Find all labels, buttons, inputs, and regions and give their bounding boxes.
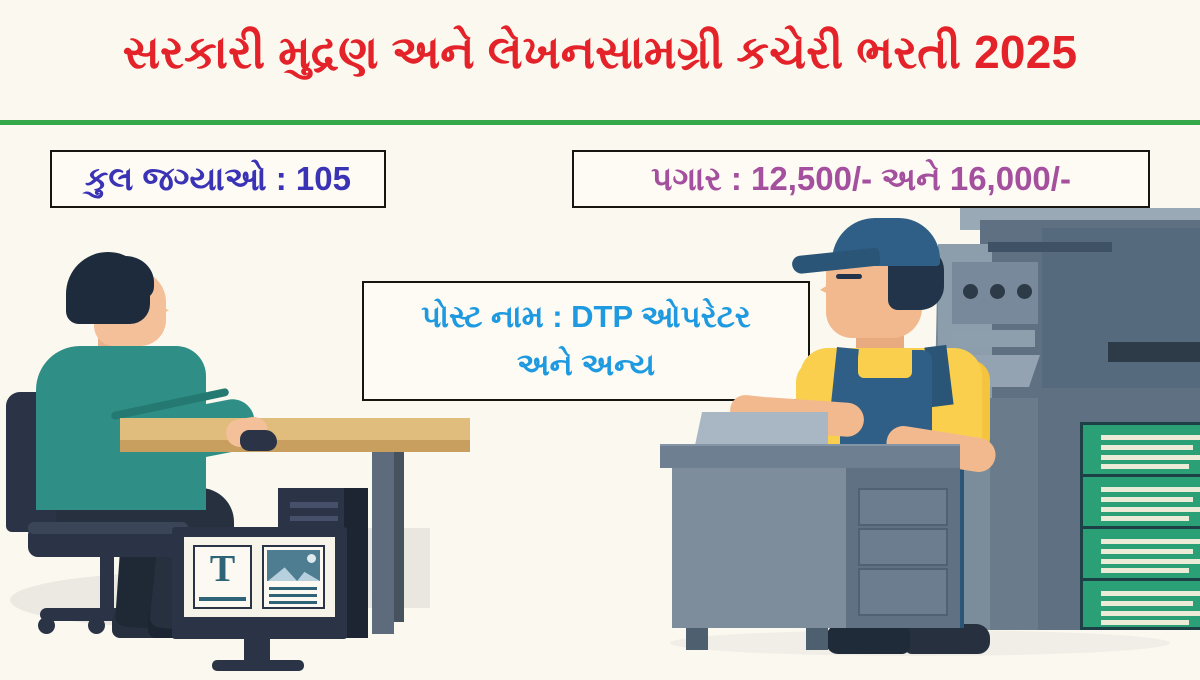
paper-sheet — [1101, 568, 1189, 573]
shelf-row — [1083, 477, 1200, 529]
desk-leg — [372, 452, 394, 634]
total-vacancies-box: કુલ જગ્યાઓ : 105 — [50, 150, 386, 208]
shelf-row — [1083, 529, 1200, 581]
computer-mouse — [240, 430, 277, 451]
monitor-neck — [244, 639, 270, 663]
screen-text-glyph: T — [193, 546, 252, 592]
paper-sheet — [1101, 455, 1200, 460]
desk-leg-inner — [394, 452, 404, 622]
work-table-drawer — [858, 528, 948, 566]
paper-sheet — [1101, 516, 1189, 521]
paper-sheet — [1101, 464, 1189, 469]
press-button-icon — [990, 284, 1005, 299]
shelf-row — [1083, 425, 1200, 477]
pc-tower-drive-slot — [290, 502, 338, 508]
screen-photo-sun — [307, 554, 316, 563]
total-vacancies-text: કુલ જગ્યાઓ : 105 — [85, 159, 351, 199]
work-table-drawer — [858, 488, 948, 526]
chair-caster — [88, 617, 105, 634]
work-table-top — [660, 446, 960, 468]
paper-sheet — [1101, 507, 1200, 512]
press-top-line — [988, 242, 1112, 252]
paper-sheet — [1101, 539, 1200, 544]
screen-photo-caption-line — [269, 594, 317, 597]
pc-tower-side — [344, 488, 368, 638]
paper-sheet — [1101, 620, 1189, 625]
press-operator-illustration — [660, 200, 1200, 680]
salary-text: પગાર : 12,500/- અને 16,000/- — [651, 159, 1071, 199]
worker-shoe-front — [826, 624, 910, 654]
paper-sheet — [1101, 611, 1200, 616]
press-slot — [1108, 342, 1200, 362]
paper-sheet — [1101, 497, 1193, 502]
page-title: સરકારી મુદ્રણ અને લેખનસામગ્રી કચેરી ભરતી… — [0, 22, 1200, 82]
press-panel-strip — [953, 330, 1035, 347]
operator-hair-fringe — [106, 256, 154, 300]
paper-sheet — [1101, 601, 1193, 606]
header-divider — [0, 120, 1200, 125]
press-button-icon — [963, 284, 978, 299]
work-table-body — [672, 468, 860, 628]
pc-tower-drive-slot-2 — [290, 516, 338, 521]
paper-sheet — [1101, 591, 1200, 596]
work-table-foot — [686, 628, 708, 650]
press-button-icon — [1017, 284, 1032, 299]
work-table-foot — [806, 628, 828, 650]
paper-sheet — [1101, 549, 1193, 554]
worker-overall-bib-notch — [858, 350, 912, 378]
paper-sheet — [1101, 435, 1200, 440]
desk-top — [120, 418, 470, 440]
worker-shoe-back — [904, 624, 990, 654]
paper-sheet — [1101, 559, 1200, 564]
paper-sheet — [1101, 487, 1200, 492]
work-table-drawer — [858, 568, 948, 616]
recruitment-poster: સરકારી મુદ્રણ અને લેખનસામગ્રી કચેરી ભરતી… — [0, 0, 1200, 680]
screen-photo-caption-line — [269, 601, 317, 604]
office-chair-stem — [100, 555, 114, 613]
dtp-operator-illustration: T — [0, 240, 470, 680]
paper-shelf-unit — [1080, 422, 1200, 630]
screen-photo-caption-line — [269, 587, 317, 590]
screen-text-rule — [199, 597, 246, 601]
chair-caster — [38, 617, 55, 634]
desk-top-edge — [120, 440, 470, 452]
press-upper-block — [1042, 228, 1200, 388]
press-lower-mid — [990, 398, 1038, 630]
paper-sheet — [1101, 445, 1193, 450]
shelf-row — [1083, 581, 1200, 633]
worker-eyebrow — [836, 274, 862, 279]
office-chair-seat-lip — [28, 522, 188, 534]
